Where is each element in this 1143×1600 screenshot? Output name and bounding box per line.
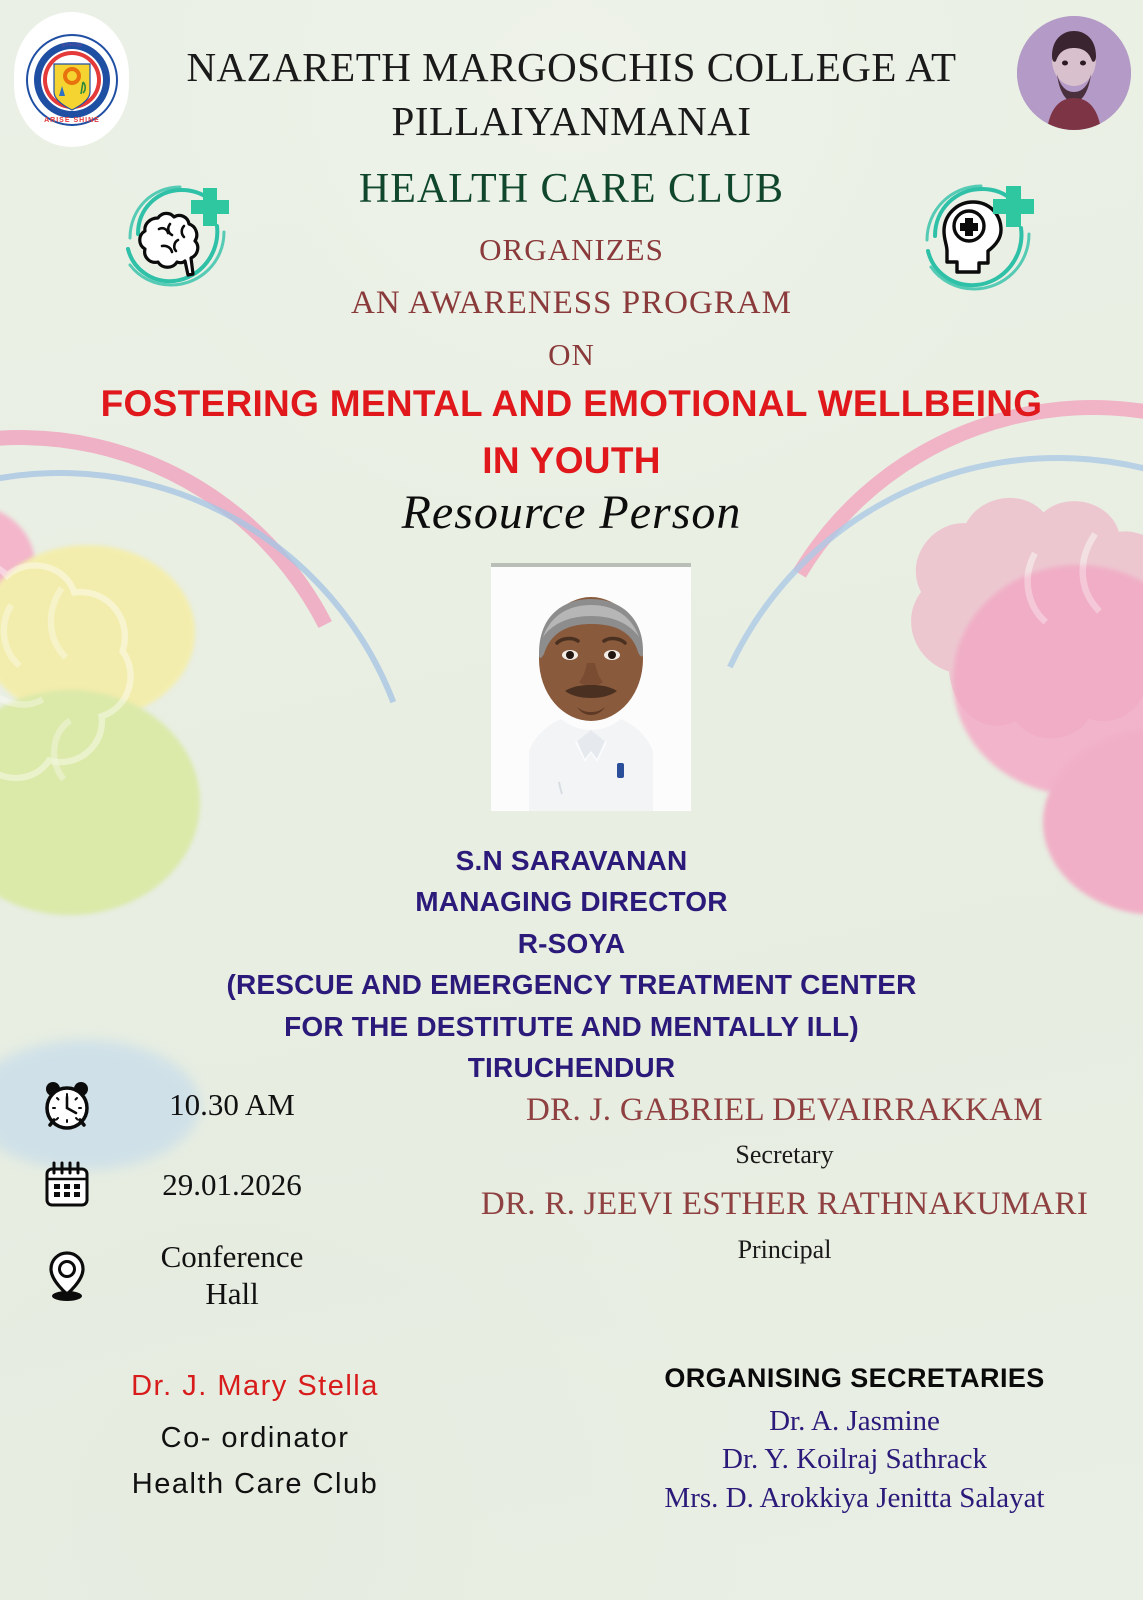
dignitary-name-principal: DR. R. JEEVI ESTHER RATHNAKUMARI <box>440 1184 1129 1224</box>
venue-line1: Conference <box>98 1238 366 1275</box>
poster-root: ARISE SHINE நாசரேத் NAZARETH MARGOSCHIS … <box>0 0 1143 1600</box>
on-label: ON <box>0 337 1143 373</box>
college-name-line2: PILLAIYANMANAI <box>130 94 1013 148</box>
dignitary-role-principal: Principal <box>440 1235 1129 1265</box>
alarm-clock-icon <box>36 1078 98 1132</box>
organizes-label: ORGANIZES <box>0 232 1143 268</box>
college-seal-icon: ARISE SHINE நாசரேத் <box>14 12 129 147</box>
coordinator-block: Dr. J. Mary Stella Co- ordinator Health … <box>40 1370 470 1508</box>
detail-value-time: 10.30 AM <box>98 1086 366 1123</box>
program-topic-line1: FOSTERING MENTAL AND EMOTIONAL WELLBEING <box>0 375 1143 432</box>
resource-person-label: Resource Person <box>0 485 1143 540</box>
event-details: 10.30 AM 29.01.2026 <box>36 1078 366 1338</box>
detail-row-time: 10.30 AM <box>36 1078 366 1132</box>
organising-secretaries-block: ORGANISING SECRETARIES Dr. A. Jasmine Dr… <box>580 1363 1129 1517</box>
coordinator-club: Health Care Club <box>40 1461 470 1507</box>
coordinator-name: Dr. J. Mary Stella <box>40 1370 470 1403</box>
coordinator-role: Co- ordinator <box>40 1415 470 1461</box>
watermark-blob-yellow <box>0 545 195 720</box>
watermark-blob-pink-right-upper <box>953 565 1143 795</box>
detail-value-date: 29.01.2026 <box>98 1166 366 1203</box>
location-pin-icon <box>36 1246 98 1304</box>
program-label: AN AWARENESS PROGRAM <box>0 285 1143 322</box>
svg-text:ARISE SHINE: ARISE SHINE <box>44 117 100 124</box>
venue-line2: Hall <box>98 1275 366 1312</box>
dignitary-name-secretary: DR. J. GABRIEL DEVAIRRAKKAM <box>440 1090 1129 1130</box>
svg-text:நாசரேத்: நாசரேத் <box>62 41 82 48</box>
dignitary-role-secretary: Secretary <box>440 1140 1129 1170</box>
speaker-org-expansion-line2: FOR THE DESTITUTE AND MENTALLY ILL) <box>0 1006 1143 1047</box>
dignitaries-list: DR. J. GABRIEL DEVAIRRAKKAM Secretary DR… <box>440 1090 1129 1279</box>
organising-secretary-3: Mrs. D. Arokkiya Jenitta Salayat <box>580 1479 1129 1517</box>
detail-value-venue: Conference Hall <box>98 1238 366 1312</box>
calendar-icon <box>36 1158 98 1212</box>
detail-row-venue: Conference Hall <box>36 1238 366 1312</box>
speaker-designation: MANAGING DIRECTOR <box>0 881 1143 922</box>
college-name: NAZARETH MARGOSCHIS COLLEGE AT PILLAIYAN… <box>130 40 1013 148</box>
speaker-photo <box>491 563 691 811</box>
organising-secretaries-title: ORGANISING SECRETARIES <box>580 1363 1129 1394</box>
organising-secretary-1: Dr. A. Jasmine <box>580 1402 1129 1440</box>
founder-portrait-icon <box>1017 16 1131 130</box>
speaker-org-expansion-line1: (RESCUE AND EMERGENCY TREATMENT CENTER <box>0 964 1143 1005</box>
detail-row-date: 29.01.2026 <box>36 1158 366 1212</box>
speaker-name: S.N SARAVANAN <box>0 840 1143 881</box>
program-topic-line2: IN YOUTH <box>0 432 1143 489</box>
organising-secretary-2: Dr. Y. Koilraj Sathrack <box>580 1440 1129 1478</box>
speaker-organization: R-SOYA <box>0 923 1143 964</box>
college-name-line1: NAZARETH MARGOSCHIS COLLEGE AT <box>130 40 1013 94</box>
speaker-details: S.N SARAVANAN MANAGING DIRECTOR R-SOYA (… <box>0 840 1143 1089</box>
program-topic: FOSTERING MENTAL AND EMOTIONAL WELLBEING… <box>0 375 1143 490</box>
